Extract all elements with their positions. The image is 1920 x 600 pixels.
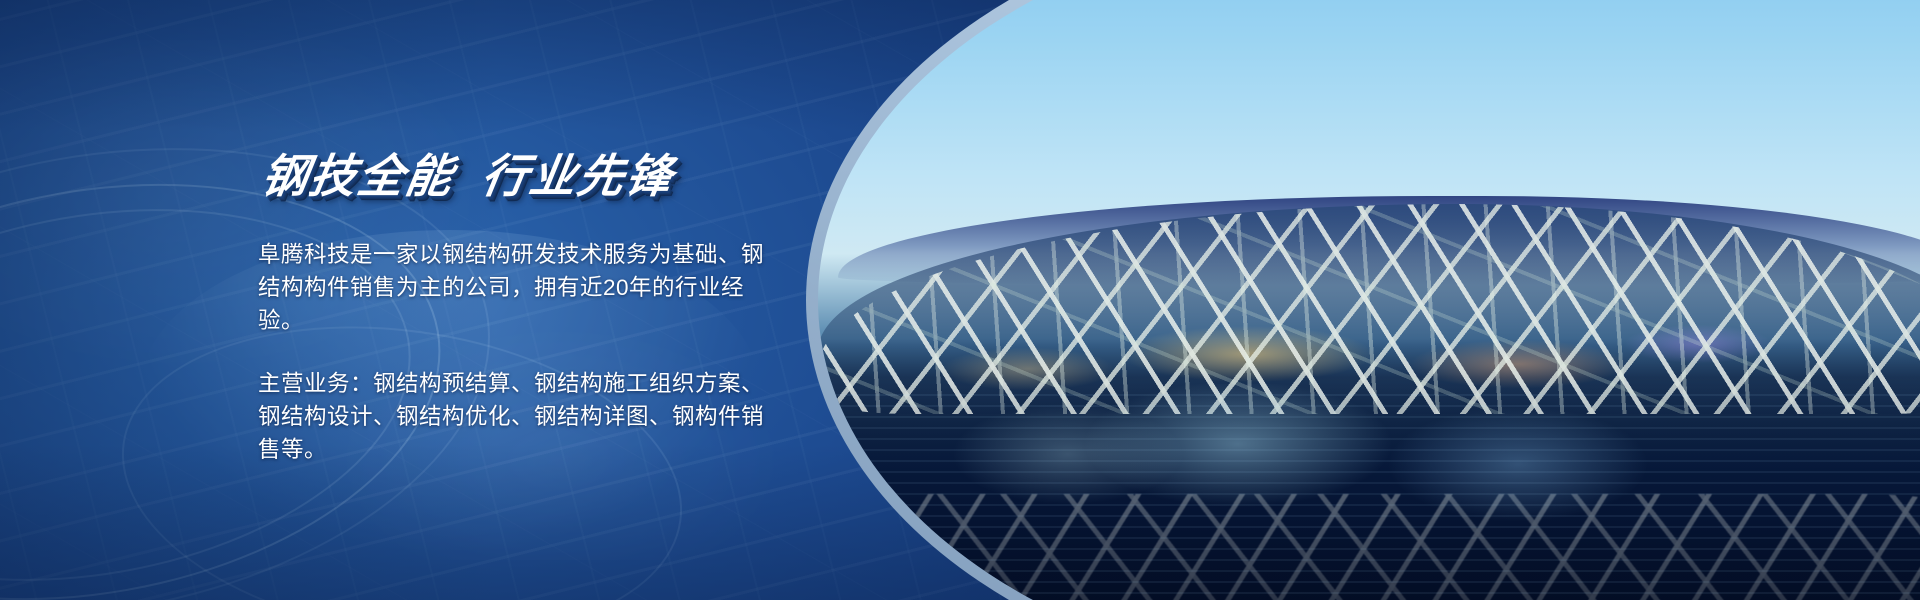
banner-headline: 钢技全能行业先锋 bbox=[258, 152, 786, 200]
headline-part-2: 行业先锋 bbox=[478, 150, 678, 202]
hero-banner: 钢技全能行业先锋 阜腾科技是一家以钢结构研发技术服务为基础、钢结构构件销售为主的… bbox=[0, 0, 1920, 600]
banner-paragraph-services: 主营业务：钢结构预结算、钢结构施工组织方案、钢结构设计、钢结构优化、钢结构详图、… bbox=[258, 367, 768, 466]
stadium-lattice-secondary bbox=[818, 204, 1920, 414]
headline-part-1: 钢技全能 bbox=[258, 150, 458, 202]
banner-content: 钢技全能行业先锋 阜腾科技是一家以钢结构研发技术服务为基础、钢结构构件销售为主的… bbox=[258, 152, 778, 466]
stadium-photo bbox=[818, 0, 1920, 600]
banner-paragraph-company: 阜腾科技是一家以钢结构研发技术服务为基础、钢结构构件销售为主的公司，拥有近20年… bbox=[258, 238, 768, 337]
stadium-body bbox=[818, 204, 1920, 414]
photo-container bbox=[818, 0, 1920, 600]
water-ripple-streaks bbox=[818, 394, 1920, 600]
